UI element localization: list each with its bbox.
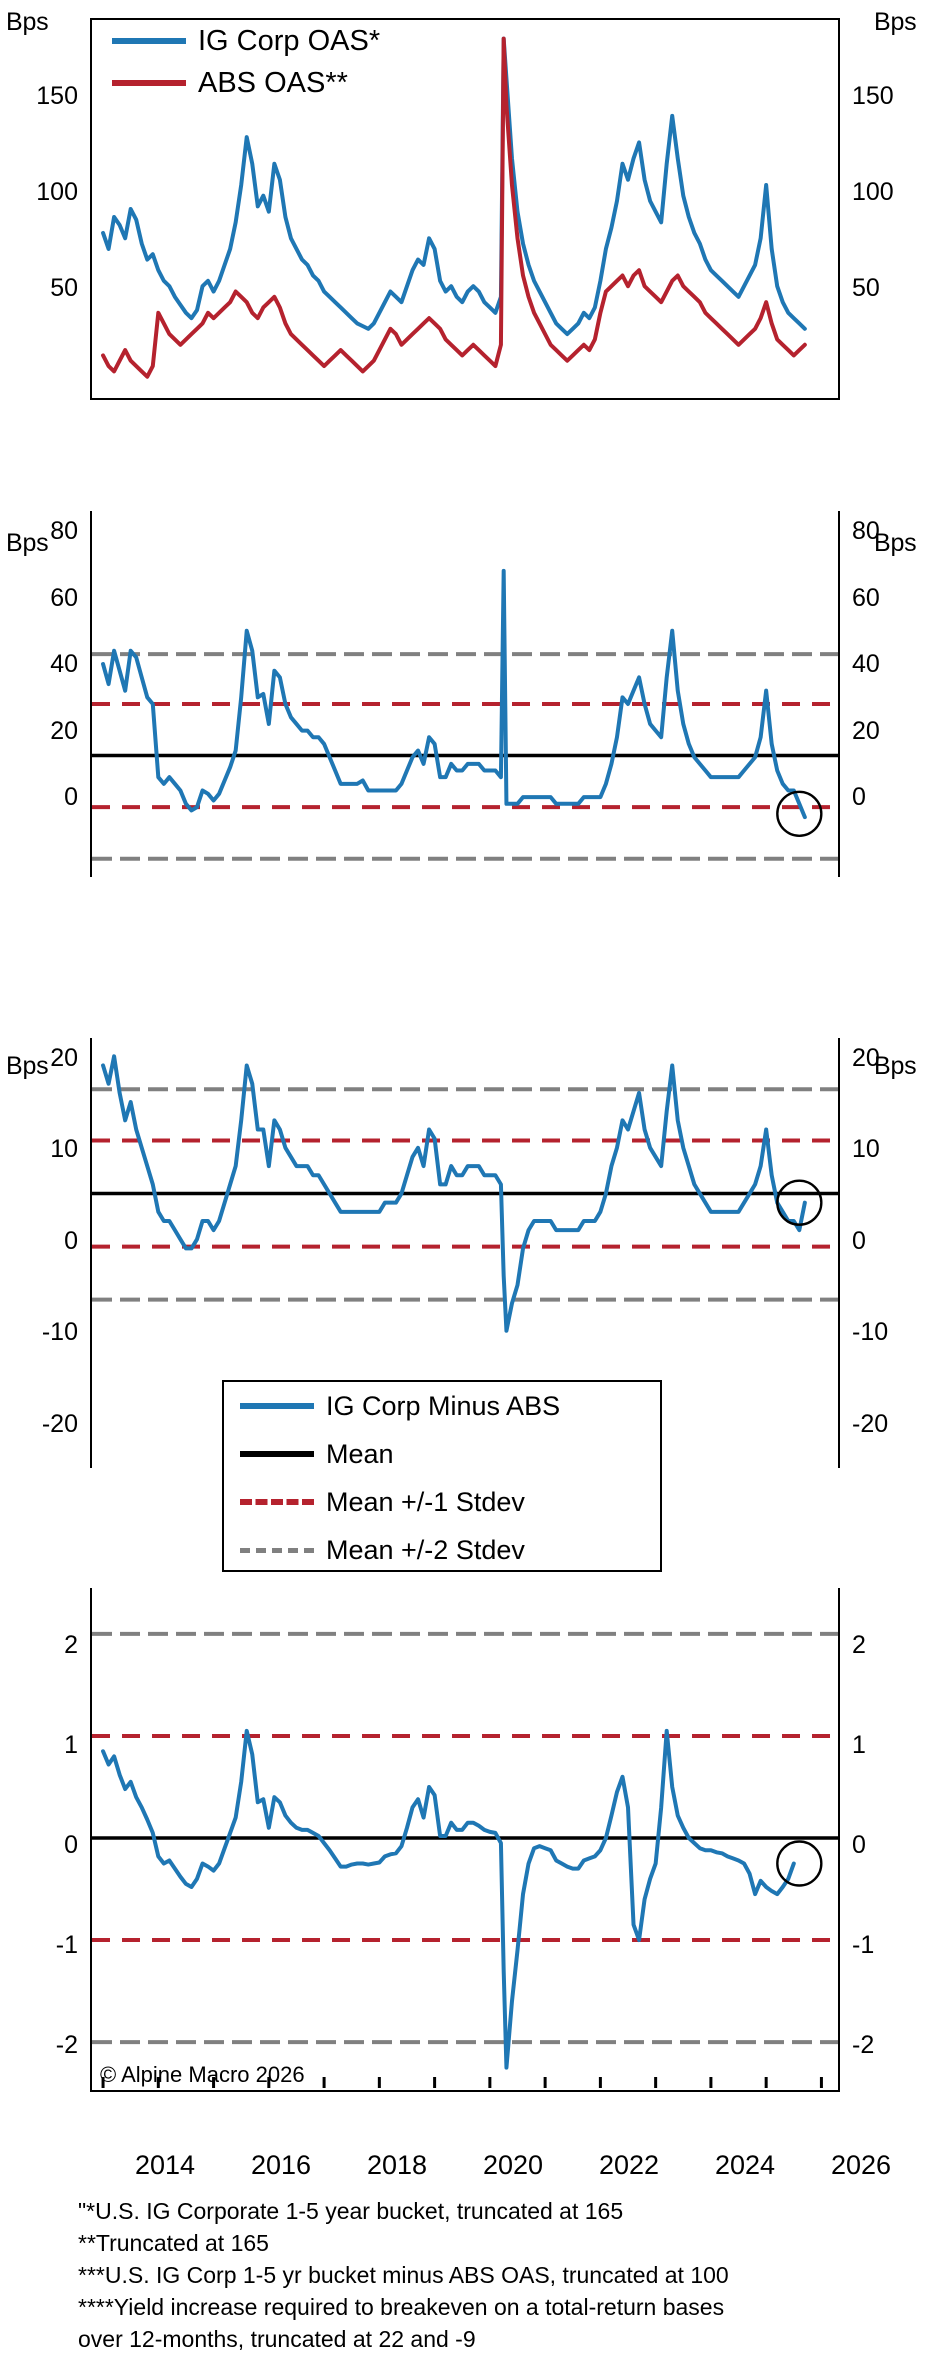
- legend-swatch-abs: [112, 80, 186, 86]
- panel2-ytick-0-left: 0: [8, 785, 78, 810]
- footnote-4: ****Yield increase required to breakeven…: [78, 2292, 724, 2322]
- legend-item-stdev2: Mean +/-2 Stdev: [224, 1526, 660, 1574]
- panel1-legend-item-abs: ABS OAS**: [96, 62, 380, 104]
- panel4-ytick-1-left: 1: [8, 1733, 78, 1758]
- panel3-ytick-0-left: 0: [8, 1229, 78, 1254]
- panel-breakeven-spread: Bps Bps Breakeven Spread* 20 10 0 -10 -2…: [0, 1060, 933, 1550]
- legend-label-stdev1: Mean +/-1 Stdev: [326, 1489, 525, 1516]
- xtick-2020: 2020: [463, 2152, 563, 2179]
- panel-vol-adjusted-breakeven: Volatility Adjusted Breakeven Spread** 2…: [0, 1600, 933, 2110]
- panel3-ytick-neg20-right: -20: [852, 1412, 922, 1437]
- panel3-ytick-10-left: 10: [8, 1137, 78, 1162]
- panel1-legend-label-ig-corp: IG Corp OAS*: [198, 28, 380, 55]
- panel1-right-unit-label: Bps: [874, 10, 916, 35]
- xtick-2018: 2018: [347, 2152, 447, 2179]
- legend-swatch-mean: [240, 1451, 314, 1457]
- xtick-2026: 2026: [811, 2152, 911, 2179]
- panel3-ytick-neg10-right: -10: [852, 1320, 922, 1345]
- footnote-2: **Truncated at 165: [78, 2228, 269, 2258]
- panel4-ytick-2-left: 2: [8, 1633, 78, 1658]
- legend-label-stdev2: Mean +/-2 Stdev: [326, 1537, 525, 1564]
- panel4-ytick-0-right: 0: [852, 1833, 922, 1858]
- panel2-ytick-20-left: 20: [8, 719, 78, 744]
- panel2-ytick-60-right: 60: [852, 586, 922, 611]
- panel4-ytick-2-right: 2: [852, 1633, 922, 1658]
- panel2-ytick-40-left: 40: [8, 652, 78, 677]
- xtick-2024: 2024: [695, 2152, 795, 2179]
- panel1-ytick-100-right: 100: [852, 180, 922, 205]
- chart-figure: Bps Bps 150 100 50 150 100 50 IG Corp OA…: [0, 0, 933, 2353]
- panel2-ytick-60-left: 60: [8, 586, 78, 611]
- panel4-ytick-1-right: 1: [852, 1733, 922, 1758]
- panel-ig-corp-abs-oas: Bps Bps 150 100 50 150 100 50 IG Corp OA…: [0, 0, 933, 400]
- panel2-ytick-80-left: 80: [8, 519, 78, 544]
- legend-swatch-stdev2: [240, 1548, 314, 1553]
- panel1-legend-label-abs: ABS OAS**: [198, 70, 348, 97]
- xtick-2016: 2016: [231, 2152, 331, 2179]
- panel1-ytick-50-right: 50: [852, 276, 922, 301]
- copyright-label: © Alpine Macro 2026: [100, 2064, 305, 2086]
- panel1-ytick-100-left: 100: [8, 180, 78, 205]
- legend-label-mean: Mean: [326, 1441, 394, 1468]
- footnote-1: "*U.S. IG Corporate 1-5 year bucket, tru…: [78, 2196, 623, 2226]
- panel3-ytick-10-right: 10: [852, 1137, 922, 1162]
- panel1-left-unit-label: Bps: [6, 10, 48, 35]
- xtick-2022: 2022: [579, 2152, 679, 2179]
- footnote-3: ***U.S. IG Corp 1-5 yr bucket minus ABS …: [78, 2260, 729, 2290]
- panel4-ytick-neg1-left: -1: [8, 1933, 78, 1958]
- legend-swatch-ig-corp: [112, 38, 186, 44]
- xtick-2014: 2014: [115, 2152, 215, 2179]
- panel2-ytick-20-right: 20: [852, 719, 922, 744]
- panel4-ytick-0-left: 0: [8, 1833, 78, 1858]
- panel2-plot-area: [90, 511, 840, 877]
- panel4-svg: [92, 1588, 838, 2088]
- legend-item-ig-corp-minus-abs: IG Corp Minus ABS: [224, 1382, 660, 1430]
- legend-swatch-stdev1: [240, 1499, 314, 1505]
- panel3-ytick-20-right: 20: [852, 1046, 922, 1071]
- panel2-svg: [92, 511, 838, 877]
- panel1-legend-item-ig-corp: IG Corp OAS*: [96, 20, 380, 62]
- panel4-plot-area: [90, 1588, 840, 2092]
- panel3-ytick-20-left: 20: [8, 1046, 78, 1071]
- panel-oas-spread: Bps Bps OAS Spread*** 80 60 40 20 0 80 6…: [0, 525, 933, 905]
- panel1-ytick-150-right: 150: [852, 84, 922, 109]
- panel3-ytick-neg20-left: -20: [8, 1412, 78, 1437]
- panel2-ytick-0-right: 0: [852, 785, 922, 810]
- panel4-ytick-neg1-right: -1: [852, 1933, 922, 1958]
- panel1-ytick-150-left: 150: [8, 84, 78, 109]
- legend-item-mean: Mean: [224, 1430, 660, 1478]
- panel3-ytick-0-right: 0: [852, 1229, 922, 1254]
- panel3-ytick-neg10-left: -10: [8, 1320, 78, 1345]
- panel4-ytick-neg2-left: -2: [8, 2033, 78, 2058]
- footnote-5: over 12-months, truncated at 22 and -9: [78, 2324, 476, 2354]
- panel1-legend: IG Corp OAS* ABS OAS**: [96, 20, 380, 104]
- panel4-ytick-neg2-right: -2: [852, 2033, 922, 2058]
- panel1-ytick-50-left: 50: [8, 276, 78, 301]
- shared-legend: IG Corp Minus ABS Mean Mean +/-1 Stdev M…: [222, 1380, 662, 1572]
- panel2-ytick-40-right: 40: [852, 652, 922, 677]
- panel2-ytick-80-right: 80: [852, 519, 922, 544]
- legend-label-ig-corp-minus-abs: IG Corp Minus ABS: [326, 1393, 560, 1420]
- legend-item-stdev1: Mean +/-1 Stdev: [224, 1478, 660, 1526]
- legend-swatch-ig-corp-minus-abs: [240, 1403, 314, 1409]
